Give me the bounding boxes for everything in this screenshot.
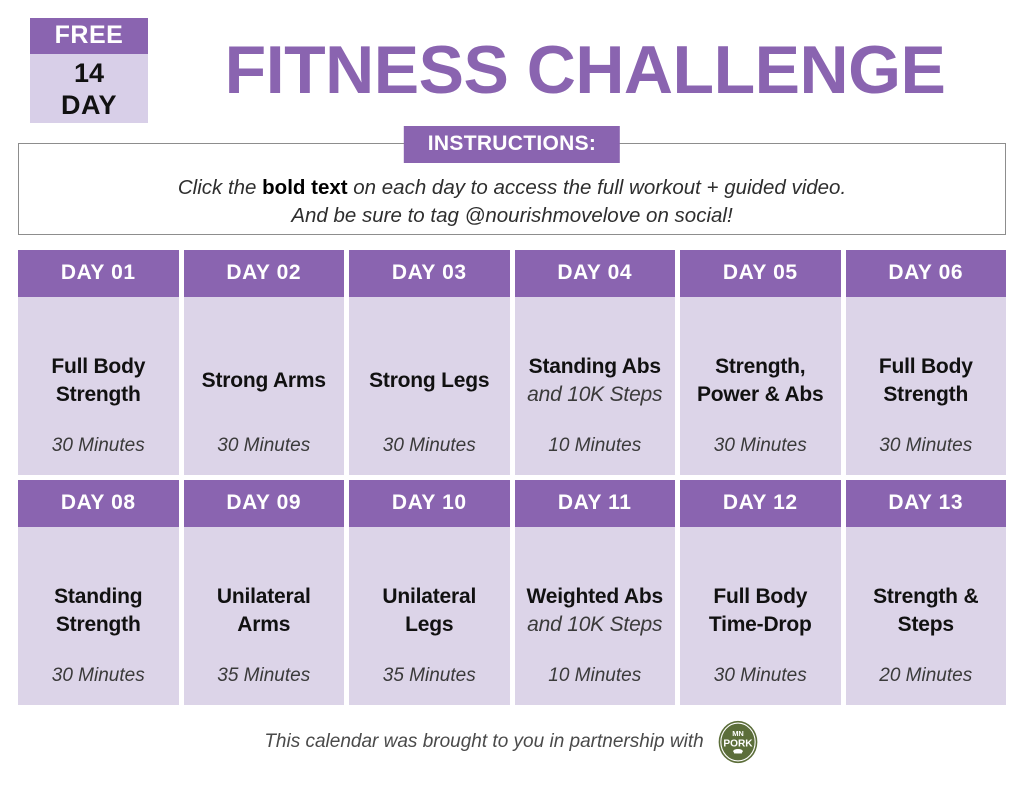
workout-link[interactable]: Unilateral Legs	[357, 583, 502, 639]
day-card-header: DAY 01	[18, 250, 179, 297]
day-card-header: DAY 03	[349, 250, 510, 297]
day-card-body: Full Body Strength30 Minutes	[18, 297, 179, 475]
workout-link[interactable]: Full Body Time-Drop	[688, 583, 833, 639]
day-card-header: DAY 06	[846, 250, 1007, 297]
instructions-tab-label: INSTRUCTIONS:	[404, 126, 620, 163]
day-card-body: Strength, Power & Abs30 Minutes	[680, 297, 841, 475]
fitness-challenge-calendar: FREE 14 DAY FITNESS CHALLENGE INSTRUCTIO…	[0, 0, 1024, 791]
workout-duration: 30 Minutes	[846, 435, 1007, 457]
workout-title-bold: Weighted Abs	[527, 585, 663, 608]
footer-text: This calendar was brought to you in part…	[264, 731, 703, 753]
day-card-header: DAY 02	[184, 250, 345, 297]
workout-link[interactable]: Strong Arms	[202, 367, 326, 395]
workout-duration: 20 Minutes	[846, 665, 1007, 687]
svg-text:PORK: PORK	[723, 738, 753, 749]
workout-title-bold: Strong Arms	[202, 369, 326, 392]
instructions-line-2: And be sure to tag @nourishmovelove on s…	[18, 202, 1006, 230]
workout-title-bold: Unilateral Legs	[382, 585, 476, 636]
workout-duration: 35 Minutes	[184, 665, 345, 687]
workout-duration: 10 Minutes	[515, 665, 676, 687]
free-14-day-badge: FREE 14 DAY	[30, 18, 148, 123]
day-card-body: Strong Legs30 Minutes	[349, 297, 510, 475]
day-card-body: Full Body Time-Drop30 Minutes	[680, 527, 841, 705]
day-card-header: DAY 12	[680, 480, 841, 527]
day-card[interactable]: DAY 02Strong Arms30 Minutes	[184, 250, 345, 475]
workout-title-italic: and 10K Steps	[527, 383, 662, 406]
workout-link[interactable]: Strong Legs	[369, 367, 489, 395]
day-card[interactable]: DAY 09Unilateral Arms35 Minutes	[184, 480, 345, 705]
instructions-bold-text: bold text	[262, 176, 347, 199]
day-card[interactable]: DAY 03Strong Legs30 Minutes	[349, 250, 510, 475]
day-card-header: DAY 09	[184, 480, 345, 527]
day-card[interactable]: DAY 04Standing Abs and 10K Steps10 Minut…	[515, 250, 676, 475]
badge-number: 14	[74, 54, 104, 90]
day-card-body: Weighted Abs and 10K Steps10 Minutes	[515, 527, 676, 705]
day-card-body: Unilateral Legs35 Minutes	[349, 527, 510, 705]
instructions-line1-pre: Click the	[178, 176, 262, 199]
workout-title-bold: Strength, Power & Abs	[697, 355, 824, 406]
day-card-header: DAY 10	[349, 480, 510, 527]
instructions-line1-post: on each day to access the full workout +…	[348, 176, 847, 199]
workout-title-bold: Standing Strength	[54, 585, 142, 636]
day-card-header: DAY 11	[515, 480, 676, 527]
workout-duration: 30 Minutes	[680, 665, 841, 687]
mn-pork-logo: MN PORK	[716, 720, 760, 764]
day-card-body: Unilateral Arms35 Minutes	[184, 527, 345, 705]
workout-title-bold: Unilateral Arms	[217, 585, 311, 636]
day-card[interactable]: DAY 10Unilateral Legs35 Minutes	[349, 480, 510, 705]
workout-duration: 30 Minutes	[18, 435, 179, 457]
workout-title-italic: and 10K Steps	[527, 613, 662, 636]
svg-text:MN: MN	[732, 729, 744, 738]
day-card-body: Strength & Steps20 Minutes	[846, 527, 1007, 705]
day-card[interactable]: DAY 13Strength & Steps20 Minutes	[846, 480, 1007, 705]
day-card[interactable]: DAY 12Full Body Time-Drop30 Minutes	[680, 480, 841, 705]
workout-title-bold: Full Body Time-Drop	[709, 585, 812, 636]
workout-title-bold: Full Body Strength	[879, 355, 973, 406]
workout-duration: 30 Minutes	[680, 435, 841, 457]
day-card-body: Full Body Strength30 Minutes	[846, 297, 1007, 475]
workout-duration: 30 Minutes	[18, 665, 179, 687]
workout-title-bold: Strength & Steps	[873, 585, 978, 636]
day-card-body: Standing Abs and 10K Steps10 Minutes	[515, 297, 676, 475]
calendar-grid: DAY 01Full Body Strength30 MinutesDAY 02…	[18, 250, 1006, 705]
instructions-text: Click the bold text on each day to acces…	[18, 174, 1006, 230]
workout-title-bold: Standing Abs	[529, 355, 661, 378]
day-card-header: DAY 05	[680, 250, 841, 297]
workout-duration: 30 Minutes	[349, 435, 510, 457]
workout-title-bold: Strong Legs	[369, 369, 489, 392]
badge-day-label: DAY	[61, 90, 117, 121]
workout-link[interactable]: Standing Abs and 10K Steps	[523, 353, 668, 409]
workout-link[interactable]: Unilateral Arms	[192, 583, 337, 639]
workout-duration: 35 Minutes	[349, 665, 510, 687]
workout-link[interactable]: Strength & Steps	[854, 583, 999, 639]
day-card[interactable]: DAY 06Full Body Strength30 Minutes	[846, 250, 1007, 475]
day-card[interactable]: DAY 08Standing Strength30 Minutes	[18, 480, 179, 705]
day-card[interactable]: DAY 01Full Body Strength30 Minutes	[18, 250, 179, 475]
day-card-header: DAY 13	[846, 480, 1007, 527]
page-title: FITNESS CHALLENGE	[170, 34, 1006, 106]
instructions-section: INSTRUCTIONS: Click the bold text on eac…	[18, 126, 1006, 236]
workout-link[interactable]: Standing Strength	[26, 583, 171, 639]
workout-duration: 10 Minutes	[515, 435, 676, 457]
day-card[interactable]: DAY 05Strength, Power & Abs30 Minutes	[680, 250, 841, 475]
day-card[interactable]: DAY 11Weighted Abs and 10K Steps10 Minut…	[515, 480, 676, 705]
workout-duration: 30 Minutes	[184, 435, 345, 457]
workout-link[interactable]: Weighted Abs and 10K Steps	[523, 583, 668, 639]
workout-title-bold: Full Body Strength	[51, 355, 145, 406]
instructions-line-1: Click the bold text on each day to acces…	[18, 174, 1006, 202]
workout-link[interactable]: Strength, Power & Abs	[688, 353, 833, 409]
badge-free-label: FREE	[30, 18, 148, 54]
day-card-body: Strong Arms30 Minutes	[184, 297, 345, 475]
workout-link[interactable]: Full Body Strength	[26, 353, 171, 409]
footer: This calendar was brought to you in part…	[18, 719, 1006, 765]
day-card-body: Standing Strength30 Minutes	[18, 527, 179, 705]
page-header: FREE 14 DAY FITNESS CHALLENGE	[18, 0, 1006, 118]
workout-link[interactable]: Full Body Strength	[854, 353, 999, 409]
day-card-header: DAY 04	[515, 250, 676, 297]
day-card-header: DAY 08	[18, 480, 179, 527]
